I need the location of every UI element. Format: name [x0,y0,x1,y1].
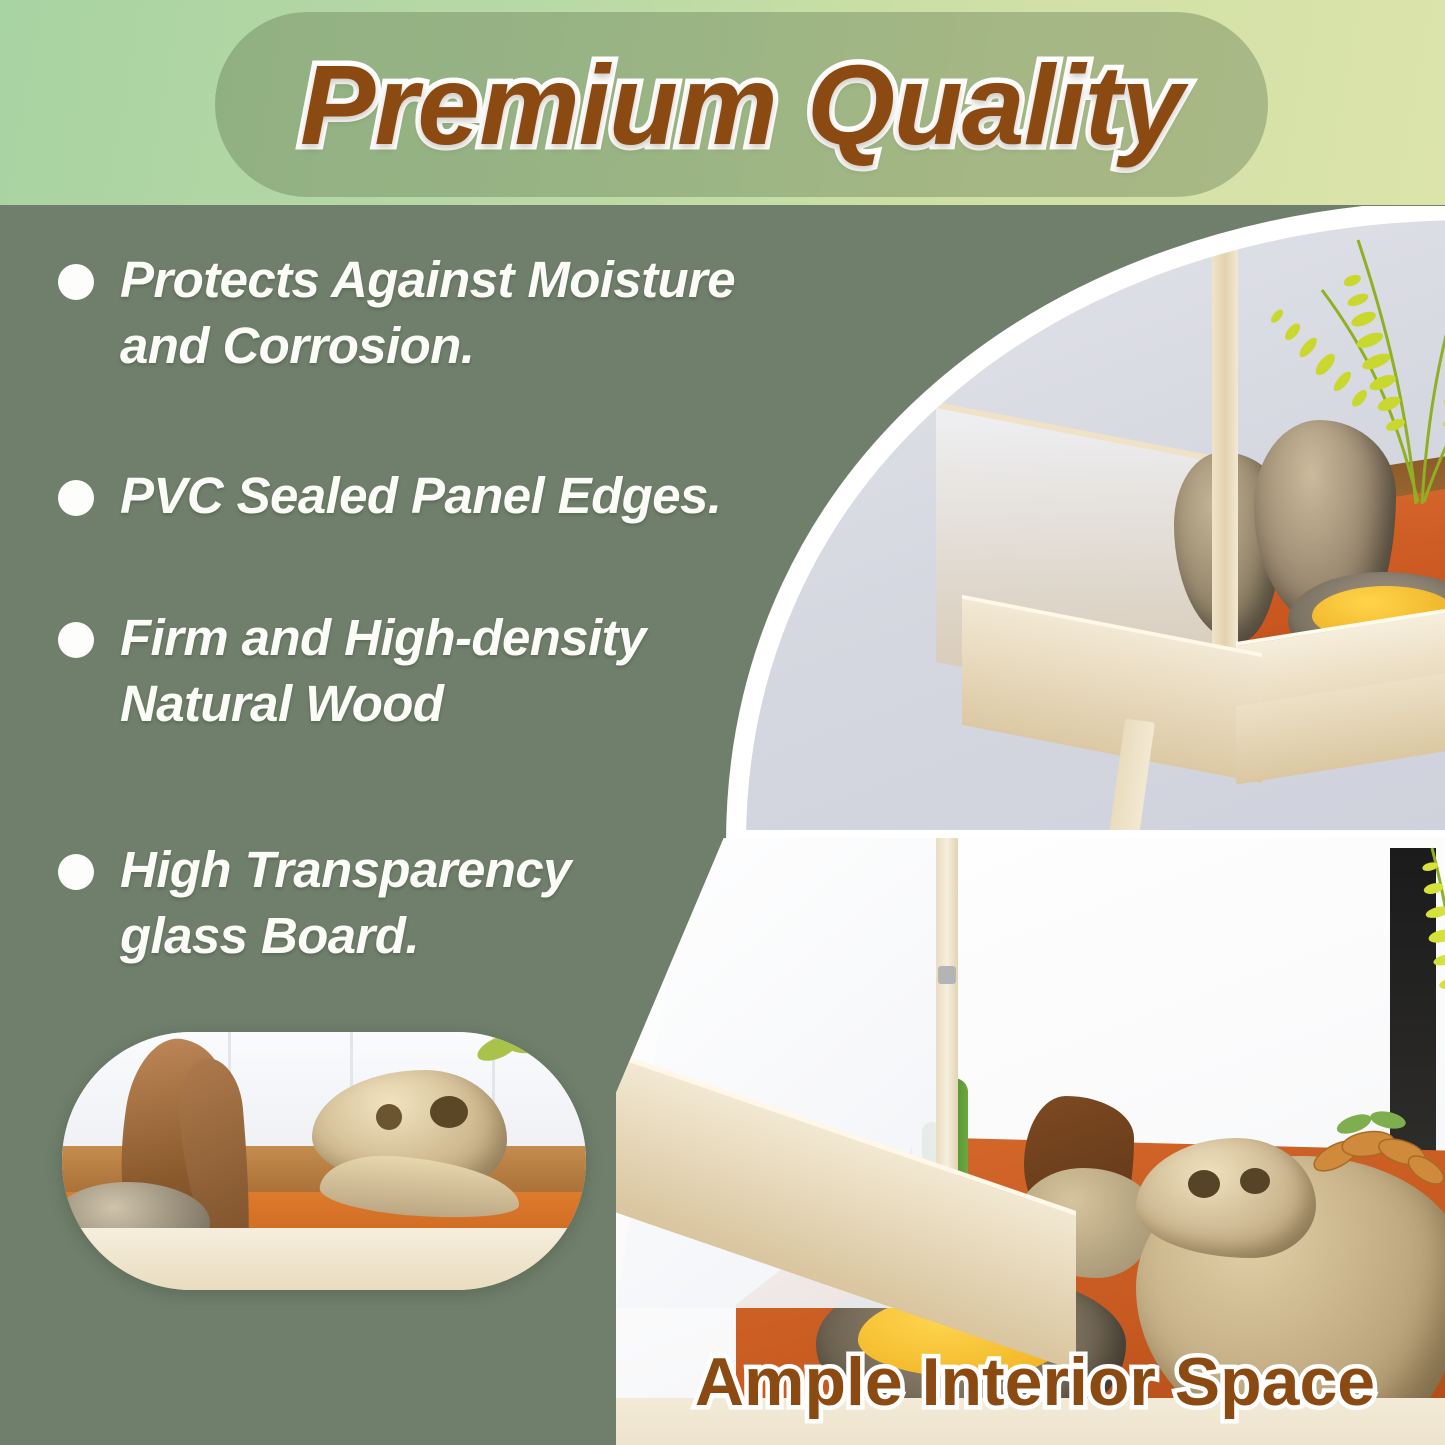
skull-eye-socket-left [430,1096,468,1128]
bottom-caption: Ample Interior Space [640,1336,1430,1428]
bullet-dot-icon [58,854,94,890]
bullet-dot-icon [58,480,94,516]
fern-plant-icon [1356,838,1445,1074]
bullet-dot-icon [58,622,94,658]
header-band: Premium Quality [0,0,1445,208]
feature-bullet-list: Protects Against Moisture and Corrosion.… [0,205,830,1005]
bullet-text: High Transparency glass Board. [120,837,571,970]
bullet-line-1: PVC Sealed Panel Edges. [120,467,721,524]
bullet-text: PVC Sealed Panel Edges. [120,463,721,529]
bullet-text: Firm and High-density Natural Wood [120,605,646,738]
bullet-item-moisture-corrosion: Protects Against Moisture and Corrosion. [58,247,818,380]
bullet-line-2: Natural Wood [120,675,443,732]
skull-eye-socket-right [1240,1168,1270,1194]
orange-plant-icon [1306,1100,1445,1210]
bullet-item-pvc-sealed-edges: PVC Sealed Panel Edges. [58,463,818,529]
bullet-line-1: Firm and High-density [120,609,646,666]
skull-eye-socket-left [1188,1170,1220,1198]
bullet-item-natural-wood: Firm and High-density Natural Wood [58,605,758,738]
base-board [62,1228,586,1290]
bullet-text: Protects Against Moisture and Corrosion. [120,247,735,380]
bullet-line-2: glass Board. [120,907,419,964]
fern-leaf-icon [468,1032,586,1118]
skull-eye-socket-right [376,1104,402,1130]
poster-root: Premium Quality [0,0,1445,1445]
bullet-line-2: and Corrosion. [120,317,474,374]
bullet-line-1: Protects Against Moisture [120,251,735,308]
hinge-icon [938,966,956,984]
photo-oval-inset-closeup [62,1032,586,1290]
bullet-item-glass-board: High Transparency glass Board. [58,837,698,970]
page-title: Premium Quality [215,12,1268,197]
oval-scene [62,1032,586,1290]
bullet-line-1: High Transparency [120,841,571,898]
bullet-dot-icon [58,264,94,300]
